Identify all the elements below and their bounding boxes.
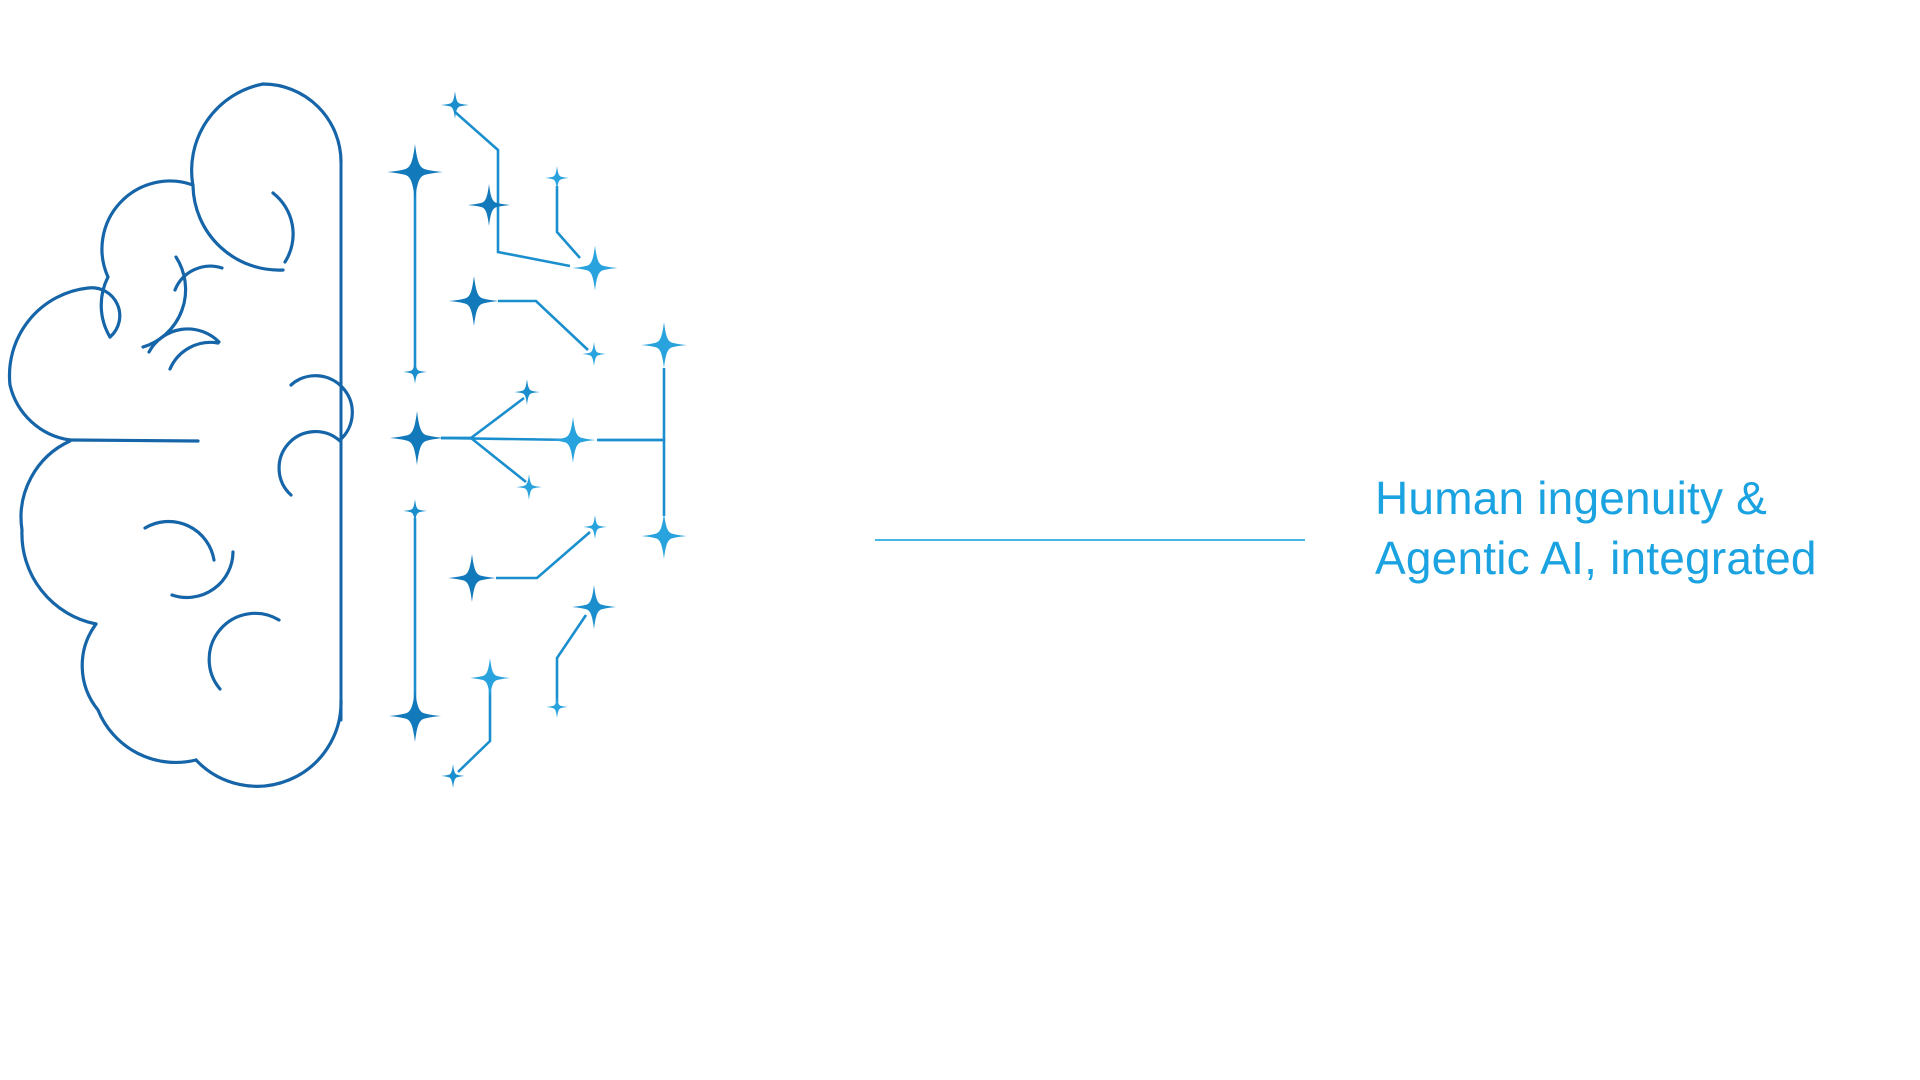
- node-n1: [441, 91, 469, 119]
- network-traces: [415, 112, 664, 772]
- node-n18: [572, 585, 616, 629]
- node-n8: [641, 322, 687, 368]
- gyrus-4: [279, 432, 340, 495]
- node-n2: [387, 144, 443, 200]
- trace-n15-n16: [496, 532, 590, 578]
- trace-n18-n21: [557, 615, 586, 702]
- node-n9: [403, 360, 427, 384]
- gyrus-12: [170, 342, 218, 369]
- trace-n11-n10: [441, 398, 524, 438]
- gyrus-9: [172, 552, 233, 598]
- node-n3: [468, 184, 510, 226]
- node-n7: [582, 342, 606, 366]
- gyrus-2: [143, 257, 186, 347]
- trace-n4-n5: [557, 186, 580, 258]
- node-n17: [641, 513, 687, 559]
- gyrus-3: [291, 376, 352, 440]
- trace-n19-n22: [458, 690, 490, 772]
- node-n14: [403, 499, 427, 523]
- lobe-mid-left: [9, 288, 119, 440]
- node-n20: [389, 690, 441, 742]
- node-n21: [546, 696, 568, 718]
- node-n11: [390, 411, 444, 465]
- caption-line-2: Agentic AI, integrated: [1375, 528, 1875, 588]
- caption-line-1: Human ingenuity &: [1375, 468, 1875, 528]
- gyrus-8: [145, 521, 214, 560]
- trace-n12-n17: [597, 440, 664, 516]
- node-n6: [449, 276, 499, 326]
- illustration-stage: Human ingenuity & Agentic AI, integrated: [0, 0, 1920, 1080]
- lobe-waist-left: [70, 440, 198, 441]
- gyrus-5: [149, 329, 219, 352]
- lobe-lower-left: [21, 441, 96, 624]
- node-n12: [550, 417, 596, 463]
- gyrus-1: [273, 193, 293, 262]
- lobe-bottom-left: [82, 624, 196, 762]
- gyrus-10: [222, 742, 358, 841]
- trace-n1-n5: [455, 112, 570, 266]
- caption-block: Human ingenuity & Agentic AI, integrated: [1375, 468, 1875, 588]
- lobe-bottom-right: [196, 700, 341, 786]
- node-n15: [448, 554, 496, 602]
- brain-left-hemisphere: [9, 84, 358, 841]
- trace-n8-n12: [598, 368, 664, 440]
- trace-n6-n7: [498, 301, 588, 350]
- node-n4: [545, 166, 569, 190]
- lobe-top-right: [192, 84, 341, 270]
- gyrus-7: [209, 613, 279, 689]
- node-n5: [573, 246, 618, 291]
- node-n19: [470, 658, 510, 698]
- trace-n11-n13: [441, 438, 526, 482]
